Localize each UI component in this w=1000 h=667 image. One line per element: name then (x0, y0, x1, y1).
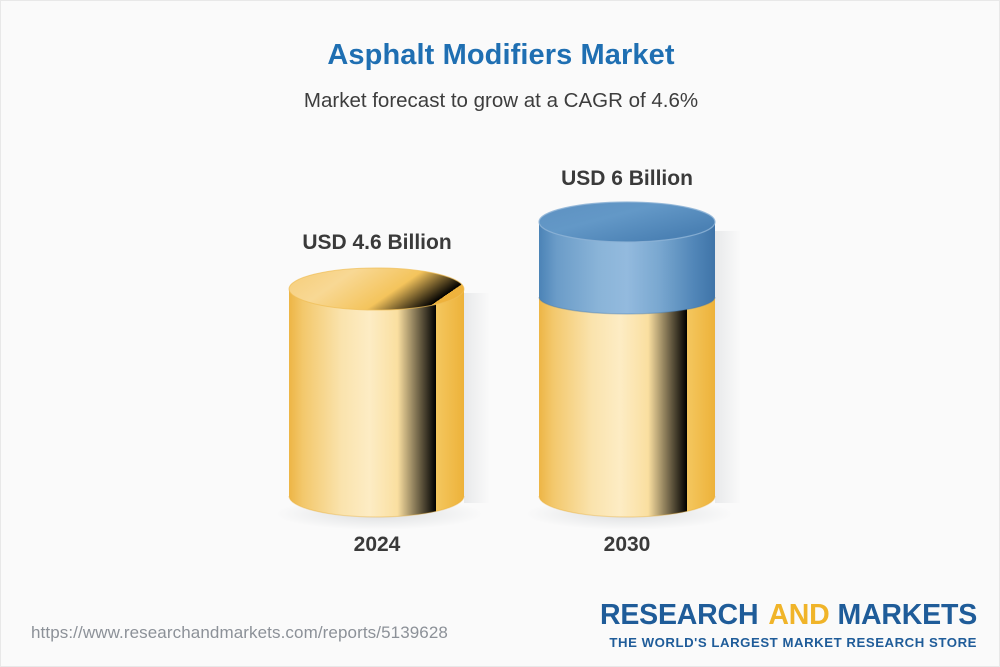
bar-value-label-2030: USD 6 Billion (477, 167, 777, 191)
bar-category-label-2030: 2030 (477, 533, 777, 557)
bar-body-2024 (289, 289, 464, 517)
bar-side-shadow-2030 (715, 231, 741, 503)
logo-word-markets: MARKETS (837, 599, 977, 631)
report-url[interactable]: https://www.researchandmarkets.com/repor… (31, 623, 448, 643)
logo-word-research: RESEARCH (600, 599, 758, 631)
logo-wordmark: RESEARCHANDMARKETS (600, 601, 977, 630)
research-and-markets-logo[interactable]: RESEARCHANDMARKETS THE WORLD'S LARGEST M… (600, 601, 977, 650)
bar-column-2024[interactable] (275, 268, 490, 530)
bar-segment-base-2030 (539, 297, 715, 517)
cylinder-bar-chart (1, 1, 1000, 667)
bar-column-2030[interactable] (525, 202, 741, 530)
logo-word-and: AND (768, 599, 829, 631)
bar-side-shadow-2024 (464, 293, 490, 503)
logo-tagline: THE WORLD'S LARGEST MARKET RESEARCH STOR… (600, 635, 977, 650)
bar-value-label-2024: USD 4.6 Billion (227, 231, 527, 255)
chart-page: Asphalt Modifiers Market Market forecast… (0, 0, 1000, 667)
